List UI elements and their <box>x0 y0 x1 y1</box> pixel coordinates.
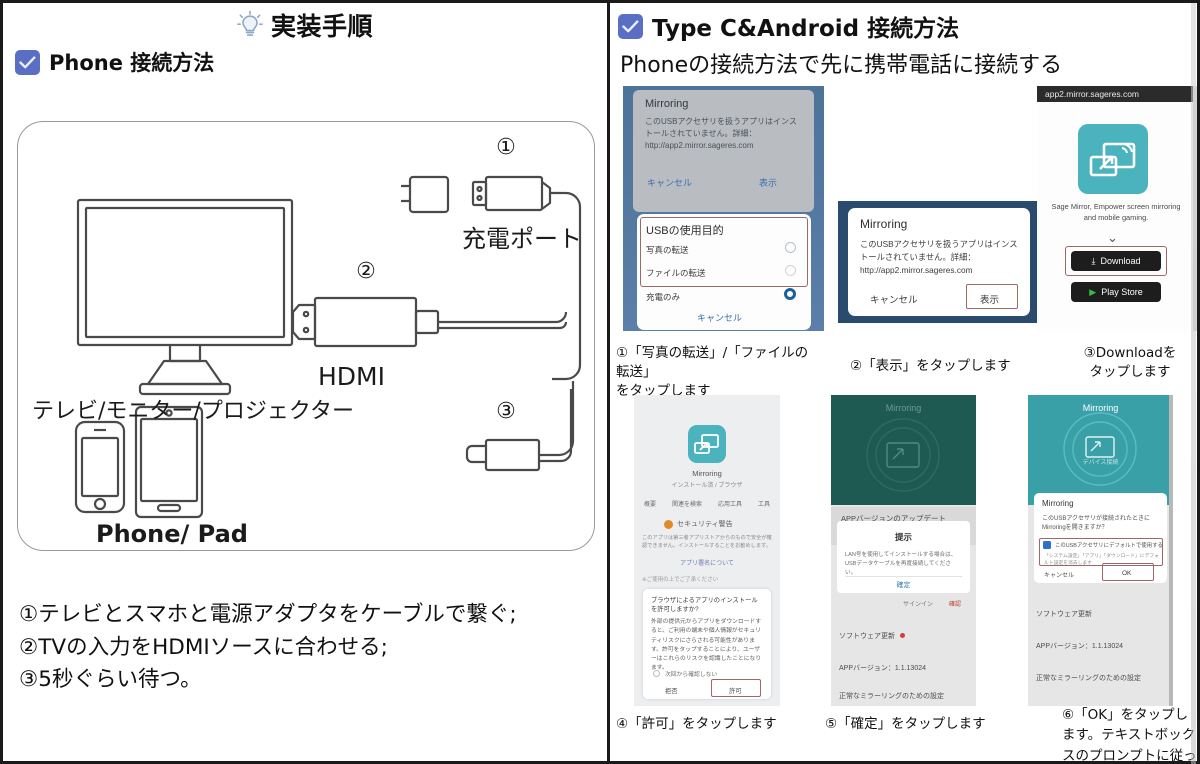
caption-step-3: ③Downloadを タップします <box>1060 344 1200 382</box>
vertical-scrollbar[interactable] <box>1191 3 1196 764</box>
checkmark-icon <box>618 14 643 39</box>
screenshot-step-2: Mirroring このUSBアクセサリを扱うアプリはインストールされていません… <box>838 201 1040 323</box>
screenshot-step-4: Mirroring インストール済 / ブラウザ 概要 関連を検索 応用工具 工… <box>634 395 780 706</box>
shot5-ok-button[interactable]: 確定 <box>837 580 970 590</box>
shot1-option-file[interactable]: ファイルの転送 <box>646 267 706 279</box>
shot6-mirroring-dialog: Mirroring このUSBアクセサリが接続されたときにMirroringを開… <box>1034 493 1167 583</box>
shot2-dialog-body: このUSBアクセサリを扱うアプリはインストールされていません。詳細：http:/… <box>860 238 1020 277</box>
shot3-url-bar[interactable]: app2.mirror.sageres.com <box>1037 86 1193 102</box>
left-steps-list: ①テレビとスマホと電源アダプタをケーブルで繋ぐ; ②TVの入力をHDMIソースに… <box>19 599 589 697</box>
lightbulb-icon <box>237 10 263 40</box>
screen-mirroring-icon <box>688 425 726 463</box>
caption-step-5: ⑤「確定」をタップします <box>825 715 1015 734</box>
shot6-edge <box>1169 395 1173 706</box>
shot1-usb-purpose-sheet: USBの使用目的 写真の転送 ファイルの転送 充電のみ キャンセル <box>637 214 811 330</box>
left-panel-title-row: 実装手順 <box>3 3 607 41</box>
shot3-url-text: app2.mirror.sageres.com <box>1045 89 1139 99</box>
diagram-marker-2: ② <box>356 259 376 284</box>
screenshot-step-6: Mirroring デバイス接続 Mirroring このUSBアクセサリが接続… <box>1028 395 1173 706</box>
shot6-header-sub: デバイス接続 <box>1028 457 1173 466</box>
shot2-show-button[interactable]: 表示 <box>980 292 999 306</box>
shot6-dialog-title: Mirroring <box>1042 499 1074 508</box>
shot1-show-button[interactable]: 表示 <box>759 176 777 189</box>
connection-diagram: ① ② ③ 充電ポート HDMI テレビ/モニター/プロジェクター Phone/… <box>17 121 595 551</box>
shot6-default-checkbox[interactable] <box>1043 541 1051 549</box>
download-icon: ⤓ <box>1091 256 1095 267</box>
shot4-signature-link[interactable]: アプリ署名について <box>634 558 780 567</box>
shot6-setting-row[interactable]: 正常なミラーリングのための設定 <box>1036 673 1141 683</box>
shot4-dialog-body: 外部の提供元からアプリをダウンロードすると、ご利用の端末や個人情報がセキュリティ… <box>651 618 763 674</box>
shot1-radio-file[interactable] <box>785 265 796 276</box>
shot4-tab-0[interactable]: 概要 <box>644 499 656 508</box>
security-warning-icon <box>664 520 673 529</box>
shot5-software-row[interactable]: ソフトウェア更新 <box>839 631 905 641</box>
shot5-dialog-body: LAN号を使用してインストールする場合は、USBデータケーブルを再度接続してくだ… <box>845 551 962 578</box>
caption-step-1: ①「写真の転送」/「ファイルの転送」 をタップします <box>616 344 821 401</box>
shot6-dialog-body: このUSBアクセサリが接続されたときにMirroringを開きますか？ <box>1042 515 1160 534</box>
shot1-radio-charge-selected[interactable] <box>784 288 796 300</box>
left-step-2: ②TVの入力をHDMIソースに合わせる; <box>19 632 589 665</box>
shot5-divider <box>845 576 962 577</box>
shot5-hero: Mirroring <box>831 395 976 505</box>
shot4-install-dialog: ブラウザによるアプリのインストールを許可しますか? 外部の提供元からアプリをダウ… <box>643 589 771 699</box>
shot1-cancel-button[interactable]: キャンセル <box>647 176 692 189</box>
right-panel: Type C&Android 接続方法 Phoneの接続方法で先に携帯電話に接続… <box>607 0 1200 764</box>
shot1-dialog-title: Mirroring <box>645 98 688 110</box>
page-root: 実装手順 Phone 接続方法 <box>0 0 1200 764</box>
shot3-download-button[interactable]: ⤓ Download <box>1071 251 1161 271</box>
left-step-3: ③5秒ぐらい待つ。 <box>19 664 589 697</box>
shot5-tip-dialog: 提示 LAN号を使用してインストールする場合は、USBデータケーブルを再度接続し… <box>837 521 970 593</box>
shot4-note: ※ご使用の上でご了承ください <box>642 575 718 583</box>
checkmark-icon <box>15 50 40 75</box>
caption-step-6: ⑥「OK」をタップし ます。テキストボック スのプロンプトに従っ て <box>1062 705 1200 764</box>
label-hdmi: HDMI <box>318 362 385 391</box>
shot6-version-row: APPバージョン：1.1.13024 <box>1036 641 1123 651</box>
shot2-cancel-button[interactable]: キャンセル <box>870 292 918 306</box>
shot1-option-photo[interactable]: 写真の転送 <box>646 244 689 256</box>
shot5-dialog-title: 提示 <box>837 531 970 543</box>
label-phone-pad: Phone/ Pad <box>96 520 248 548</box>
shot6-cancel-button[interactable]: キャンセル <box>1044 570 1074 579</box>
shot1-sheet-cancel-button[interactable]: キャンセル <box>697 311 742 324</box>
shot3-tagline: Sage Mirror, Empower screen mirroring an… <box>1049 201 1183 223</box>
shot4-dont-ask-label: 次回から確認しない <box>665 669 717 678</box>
shot2-mirroring-dialog: Mirroring このUSBアクセサリを扱うアプリはインストールされていません… <box>848 208 1030 316</box>
chevron-down-icon: ⌄ <box>1107 230 1118 246</box>
screenshot-step-3: app2.mirror.sageres.com Sage Mirror, Emp… <box>1037 86 1197 331</box>
caption-step-4: ④「許可」をタップします <box>616 715 816 734</box>
shot2-dialog-title: Mirroring <box>860 217 907 231</box>
shot3-playstore-label: Play Store <box>1101 287 1143 297</box>
shot4-security-title: セキュリティ警告 <box>677 519 733 529</box>
diagram-marker-1: ① <box>496 135 516 160</box>
left-panel: 実装手順 Phone 接続方法 <box>0 0 607 764</box>
shot6-software-row[interactable]: ソフトウェア更新 <box>1036 609 1092 619</box>
shot6-default-label: このUSBアクセサリにデフォルトで使用する <box>1055 541 1163 549</box>
screen-mirroring-icon <box>1078 124 1148 194</box>
shot6-ok-button[interactable]: OK <box>1122 570 1131 577</box>
shot5-version-row: APPバージョン：1.1.13024 <box>839 663 926 673</box>
shot4-tab-3[interactable]: 工具 <box>758 499 770 508</box>
typec-method-heading: Type C&Android 接続方法 <box>610 3 1197 43</box>
shot4-dialog-title: ブラウザによるアプリのインストールを許可しますか? <box>651 596 763 615</box>
shot1-radio-photo[interactable] <box>785 242 796 253</box>
label-charging-port: 充電ポート <box>462 225 582 253</box>
right-subtitle: Phoneの接続方法で先に携帯電話に接続する <box>610 43 1197 79</box>
shot4-tab-2[interactable]: 応用工具 <box>718 499 742 508</box>
shot5-setting-row[interactable]: 正常なミラーリングのための設定 <box>839 691 944 701</box>
shot4-dont-ask-checkbox[interactable] <box>653 670 660 677</box>
phone-method-heading: Phone 接続方法 <box>3 41 607 77</box>
shot4-tab-bar[interactable]: 概要 関連を検索 応用工具 工具 <box>644 499 770 508</box>
phone-method-label: Phone 接続方法 <box>49 47 214 77</box>
typec-method-label: Type C&Android 接続方法 <box>652 9 959 43</box>
diagram-marker-3: ③ <box>496 399 516 424</box>
shot5-badge: 確認 <box>949 599 961 608</box>
shot3-download-label: Download <box>1100 256 1140 266</box>
shot4-app-sub: インストール済 / ブラウザ <box>634 480 780 489</box>
update-dot-icon <box>900 633 905 638</box>
label-tv: テレビ/モニター/プロジェクター <box>32 399 354 424</box>
left-step-1: ①テレビとスマホと電源アダプタをケーブルで繋ぐ; <box>19 599 589 632</box>
shot4-app-name: Mirroring <box>634 469 780 478</box>
shot6-hero: Mirroring デバイス接続 <box>1028 395 1173 505</box>
shot4-tab-1[interactable]: 関連を検索 <box>672 499 702 508</box>
shot4-allow-button[interactable]: 許可 <box>729 686 742 695</box>
shot1-usb-dialog: Mirroring このUSBアクセサリを扱うアプリはインストールされていません… <box>633 90 814 212</box>
caption-step-2: ②「表示」をタップします <box>850 357 1040 376</box>
play-triangle-icon: ▶ <box>1089 287 1096 298</box>
shot1-option-charge[interactable]: 充電のみ <box>646 291 680 303</box>
shot5-software-label: ソフトウェア更新 <box>839 633 895 640</box>
shot4-security-row: セキュリティ警告 <box>664 519 733 529</box>
shot4-deny-button[interactable]: 拒否 <box>665 686 678 695</box>
page-title: 実装手順 <box>271 7 373 43</box>
screenshot-step-5: Mirroring APPバージョンのアップデート 提示 LAN号を使用してイン… <box>831 395 976 706</box>
shot1-dialog-body: このUSBアクセサリを扱うアプリはインストールされていません。詳細：http:/… <box>645 116 803 152</box>
shot3-playstore-button[interactable]: ▶ Play Store <box>1071 282 1161 302</box>
screenshot-step-1: Mirroring このUSBアクセサリを扱うアプリはインストールされていません… <box>623 86 824 331</box>
shot4-security-body: このアプリは第三者アプリストアからのもので安全が確認できません。インストールする… <box>642 534 772 551</box>
shot5-signin-row[interactable]: サインイン <box>903 599 933 608</box>
